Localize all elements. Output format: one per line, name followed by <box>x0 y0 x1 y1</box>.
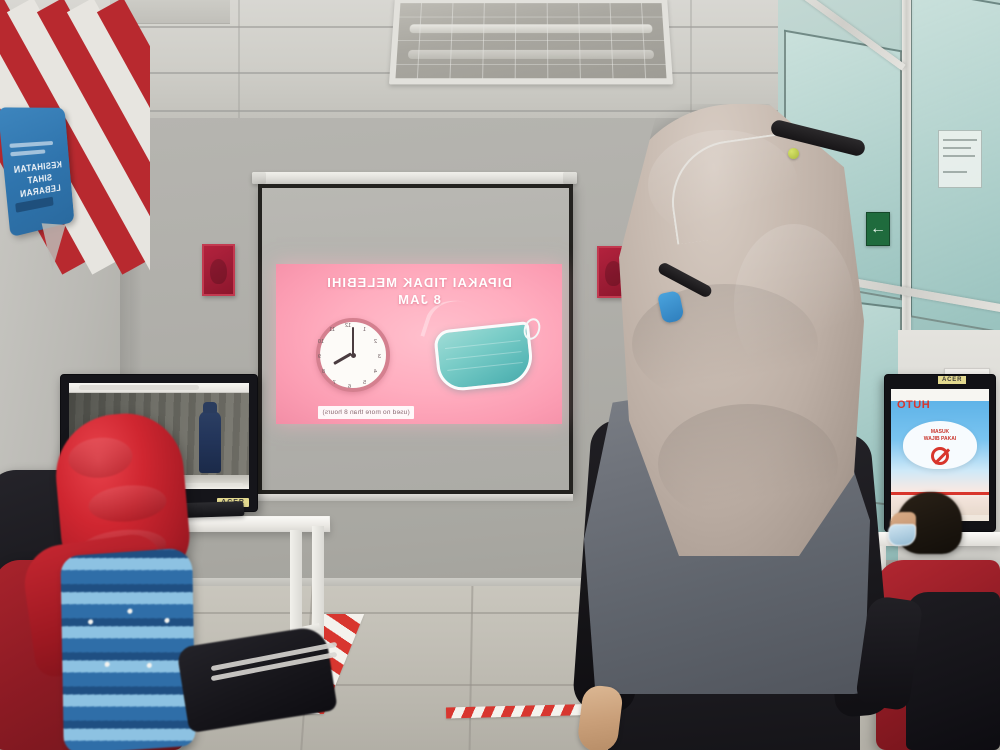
prohibition-sign-icon <box>931 447 949 465</box>
right-monitor-cloud-line-2: WAJIB PAKAI <box>903 436 977 443</box>
right-monitor-headline: OTUH <box>897 399 930 411</box>
slide-title-line-2: 8 JAM <box>276 291 562 308</box>
slide-face-mask-graphic <box>432 316 536 394</box>
slide-title: DIPAKAI TIDAK MELEBIHI 8 JAM <box>276 274 562 308</box>
red-decor-card-left <box>202 244 235 296</box>
clock-minute-hand <box>352 327 354 355</box>
glass-notice-poster <box>938 130 982 188</box>
left-monitor-url-bar <box>79 385 199 390</box>
wall-sign-tail <box>38 223 65 271</box>
room-photo-scene: KESIHATAN SIHAT LEBARAN DIPAKAI TIDAK ME… <box>0 0 1000 750</box>
left-monitor-browser-bar <box>69 383 249 393</box>
right-monitor-cloud-graphic: MASUK WAJIB PAKAI <box>903 421 977 469</box>
projector-screen-weight-bar <box>258 494 573 501</box>
wall-sign-speech-bubble: KESIHATAN SIHAT LEBARAN <box>0 107 74 237</box>
standing-woman <box>552 104 892 750</box>
projected-slide: DIPAKAI TIDAK MELEBIHI 8 JAM 12 1 2 3 4 … <box>276 264 562 424</box>
slide-title-line-1: DIPAKAI TIDAK MELEBIHI <box>276 274 562 291</box>
slide-caption: (used no more than 8 hours) <box>318 406 414 419</box>
video-worker-figure <box>199 411 221 473</box>
right-monitor-cloud-line-1: MASUK <box>903 429 977 436</box>
clock-hour-hand <box>333 353 352 365</box>
eyeglasses-chain-bead <box>788 148 799 159</box>
projector-screen: DIPAKAI TIDAK MELEBIHI 8 JAM 12 1 2 3 4 … <box>258 184 573 494</box>
seated-child-face-mask <box>888 524 916 546</box>
slide-clock-graphic: 12 1 2 3 4 5 6 7 8 9 10 11 <box>316 318 390 392</box>
seated-woman-clothing <box>60 547 195 750</box>
standing-woman-hand <box>576 684 624 750</box>
right-monitor-brand-badge: ACER <box>938 376 966 384</box>
projector-screen-casing <box>252 172 577 184</box>
ceiling-light-fixture <box>389 0 673 84</box>
